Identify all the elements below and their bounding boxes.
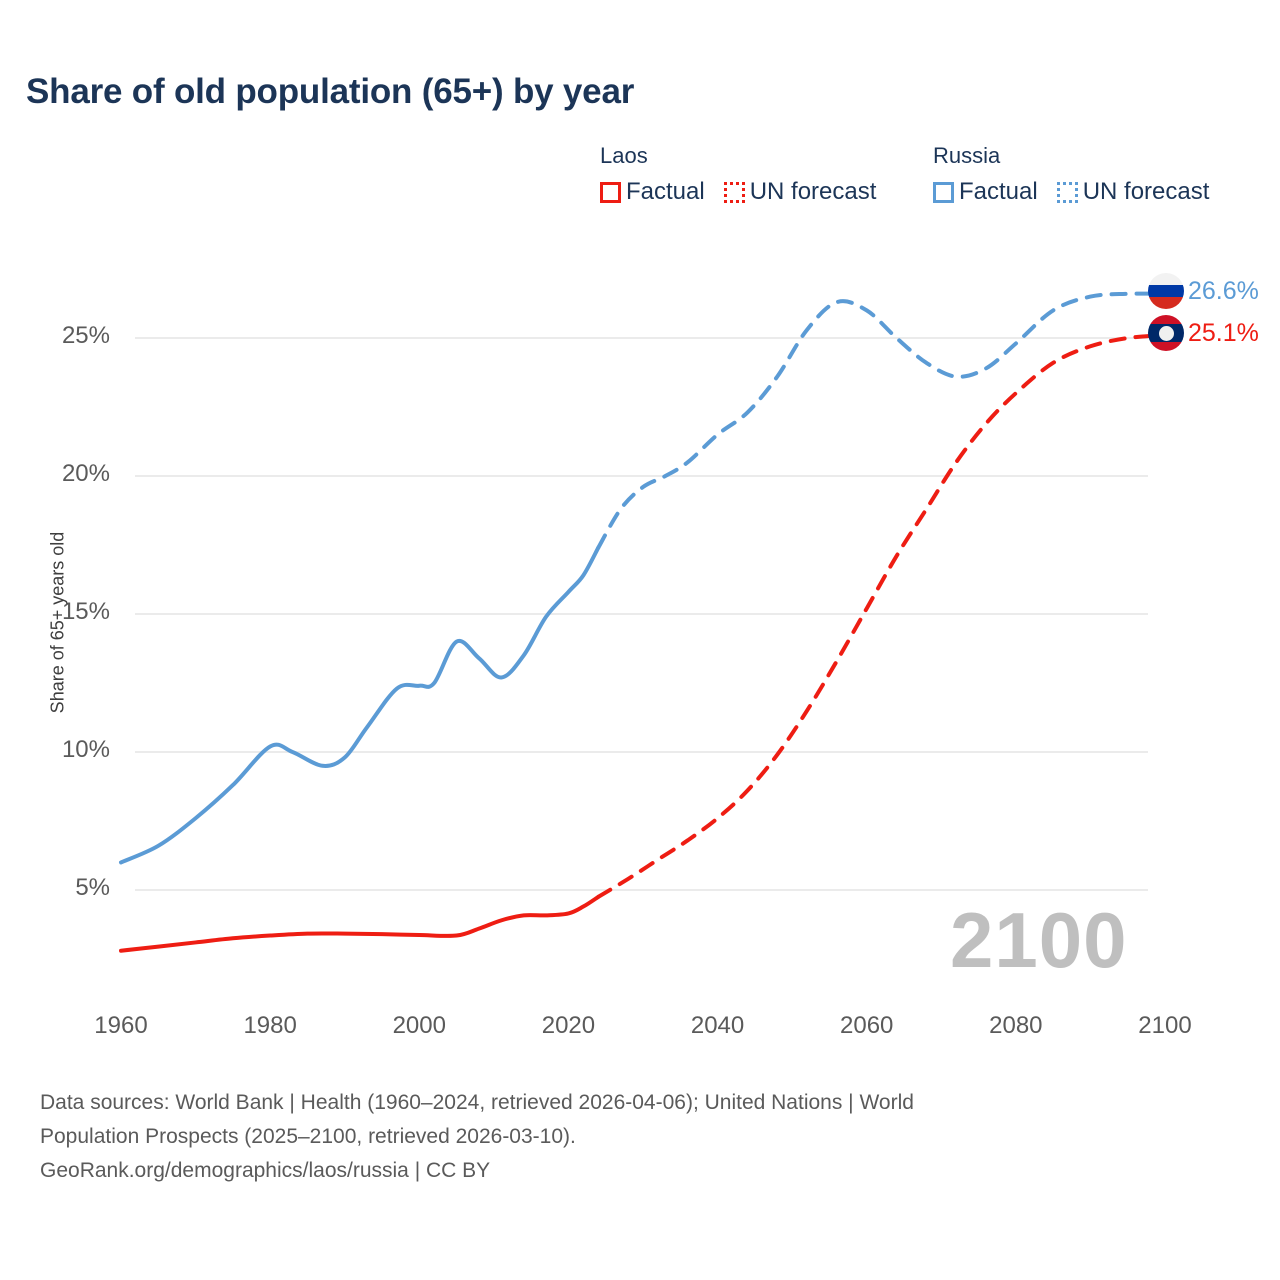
x-tick-label: 2040 (663, 1012, 773, 1040)
x-tick-label: 2100 (1110, 1012, 1220, 1040)
series-line-russia-forecast (598, 294, 1165, 548)
chart-container: Share of old population (65+) by year La… (0, 0, 1280, 1280)
x-tick-label: 2060 (812, 1012, 922, 1040)
x-tick-label: 2080 (961, 1012, 1071, 1040)
y-tick-label: 20% (20, 460, 110, 488)
footer-line-1: Data sources: World Bank | Health (1960–… (40, 1086, 1170, 1120)
x-tick-label: 1960 (66, 1012, 176, 1040)
russia-flag-icon (1148, 273, 1184, 309)
series-line-laos-forecast (598, 335, 1165, 897)
series-line-laos-factual (121, 897, 598, 951)
footer-line-2: Population Prospects (2025–2100, retriev… (40, 1120, 1170, 1154)
gridlines (135, 338, 1148, 890)
series-line-russia-factual (121, 548, 598, 863)
series-lines (121, 294, 1165, 951)
end-value-russia: 26.6% (1188, 277, 1259, 306)
end-value-laos: 25.1% (1188, 319, 1259, 348)
y-tick-label: 25% (20, 322, 110, 350)
laos-flag-icon (1148, 315, 1184, 351)
x-tick-label: 1980 (215, 1012, 325, 1040)
footer-line-3[interactable]: GeoRank.org/demographics/laos/russia | C… (40, 1154, 1170, 1188)
footer-sources: Data sources: World Bank | Health (1960–… (40, 1086, 1170, 1188)
x-tick-label: 2000 (364, 1012, 474, 1040)
y-tick-label: 5% (20, 874, 110, 902)
y-axis-title: Share of 65+ years old (48, 503, 69, 743)
plot-area (0, 0, 1280, 1010)
x-tick-label: 2020 (513, 1012, 623, 1040)
